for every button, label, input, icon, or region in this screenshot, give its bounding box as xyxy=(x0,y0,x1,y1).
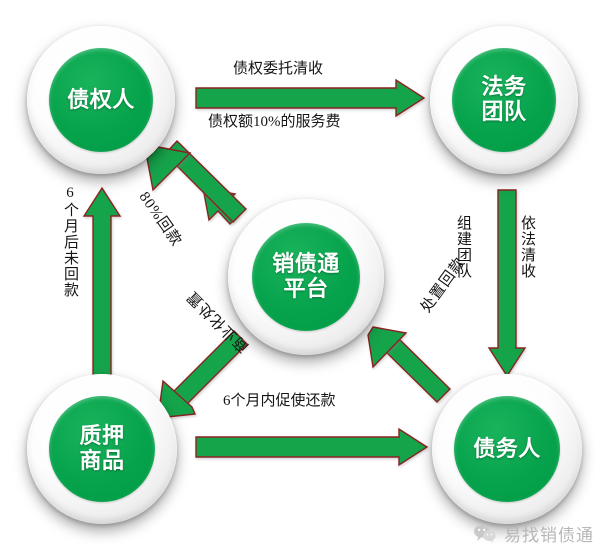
node-creditor-disc: 债权人 xyxy=(49,48,153,152)
node-creditor[interactable]: 债权人 xyxy=(27,26,175,174)
arrow-label-no-pay-6-months: 6个月后未回款 xyxy=(62,185,77,298)
node-legal-team-disc: 法务 团队 xyxy=(452,48,556,152)
node-debtor-label: 债务人 xyxy=(473,437,541,462)
node-platform-disc: 销债通 平台 xyxy=(252,223,360,331)
node-pledged-goods-disc: 质押 商品 xyxy=(49,396,155,502)
node-creditor-label: 债权人 xyxy=(67,88,135,113)
wechat-icon xyxy=(473,524,497,543)
node-legal-team-label: 法务 团队 xyxy=(481,75,526,124)
node-platform-label: 销债通 平台 xyxy=(272,252,340,301)
flow-diagram: 债权人 法务 团队 销债通 平台 质押 商品 债务人 债权委托清收 债权额10%… xyxy=(0,0,606,556)
arrow-pledge-to-creditor xyxy=(84,188,120,382)
arrow-label-service-fee: 债权额10%的服务费 xyxy=(208,115,341,131)
arrow-label-repay-within-6-months: 6个月内促使还款 xyxy=(223,394,336,410)
arrow-creditor-to-legal xyxy=(196,80,424,116)
node-legal-team[interactable]: 法务 团队 xyxy=(430,26,578,174)
node-debtor[interactable]: 债务人 xyxy=(432,374,582,524)
arrow-label-legal-collect: 依法清收 xyxy=(519,215,534,279)
arrow-label-entrust: 债权委托清收 xyxy=(233,62,323,78)
node-pledged-goods[interactable]: 质押 商品 xyxy=(27,374,177,524)
node-debtor-disc: 债务人 xyxy=(454,396,560,502)
node-pledged-goods-label: 质押 商品 xyxy=(79,424,124,473)
arrow-pledge-to-debtor xyxy=(196,429,427,465)
node-platform[interactable]: 销债通 平台 xyxy=(228,199,384,355)
watermark: 易找销债通 xyxy=(473,521,594,546)
watermark-text: 易找销债通 xyxy=(504,521,594,546)
